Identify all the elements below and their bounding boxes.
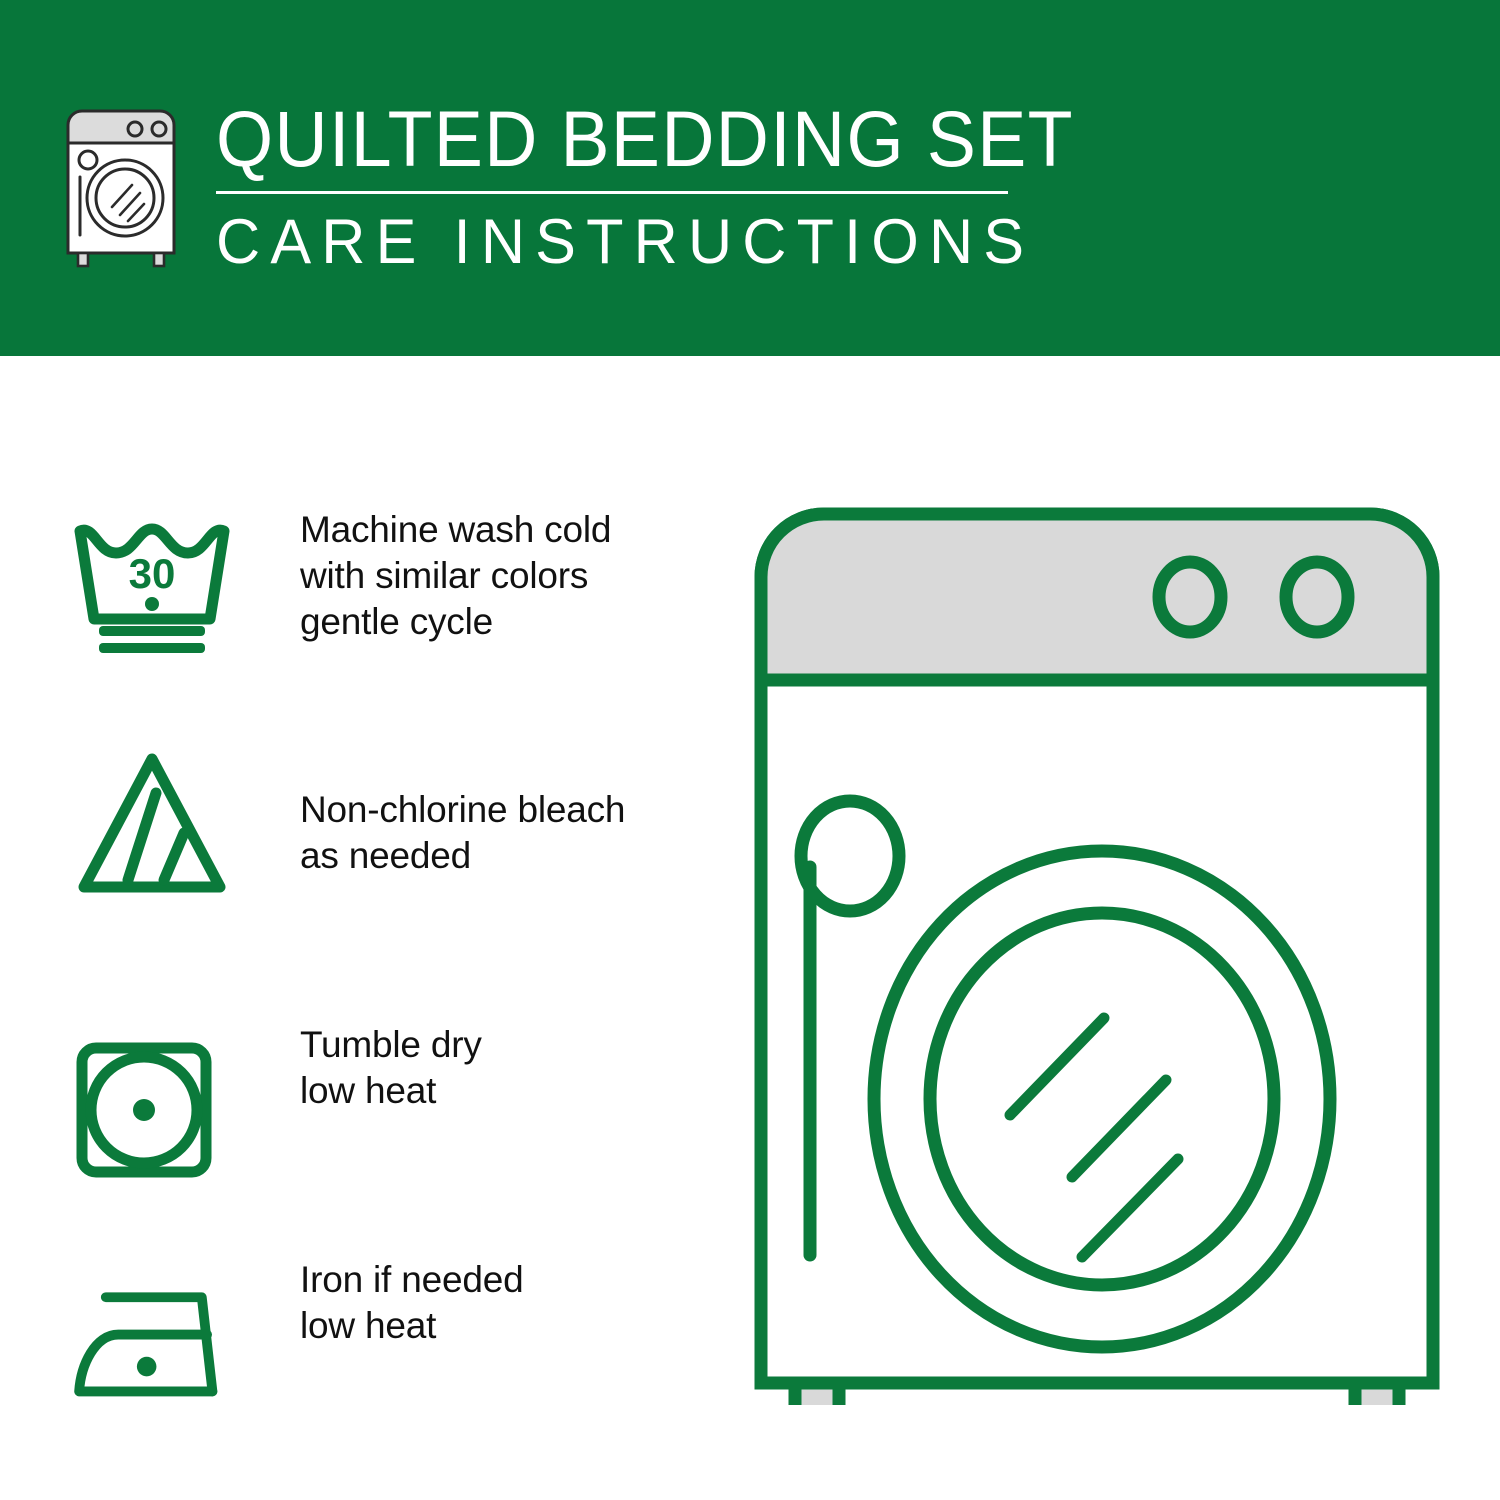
care-label-wash: Machine wash cold with similar colors ge… (300, 505, 611, 645)
care-label-bleach: Non-chlorine bleach as needed (300, 727, 625, 879)
iron-low-heat-icon (72, 1195, 232, 1417)
wash-temperature-label: 30 (129, 550, 176, 597)
machine-wash-30-icon: 30 (72, 505, 232, 659)
care-row-wash: 30 Machine wash cold with similar colors… (0, 505, 720, 735)
tumble-dry-low-icon (72, 970, 232, 1180)
header-text-block: QUILTED BEDDING SET CARE INSTRUCTIONS (216, 96, 1016, 277)
care-row-iron: Iron if needed low heat (0, 1195, 720, 1425)
care-instructions-page: QUILTED BEDDING SET CARE INSTRUCTIONS 30 (0, 0, 1500, 1500)
header-band: QUILTED BEDDING SET CARE INSTRUCTIONS (0, 0, 1500, 356)
page-subtitle: CARE INSTRUCTIONS (216, 207, 992, 277)
washing-machine-logo-icon (62, 105, 192, 270)
care-row-bleach: Non-chlorine bleach as needed (0, 727, 720, 957)
care-row-tumble-dry: Tumble dry low heat (0, 970, 720, 1200)
care-label-tumble-dry: Tumble dry low heat (300, 970, 482, 1114)
non-chlorine-bleach-icon (72, 727, 232, 897)
care-label-iron: Iron if needed low heat (300, 1195, 523, 1349)
page-title: QUILTED BEDDING SET (216, 96, 960, 182)
washing-machine-illustration (752, 505, 1442, 1405)
title-divider (216, 191, 1008, 194)
